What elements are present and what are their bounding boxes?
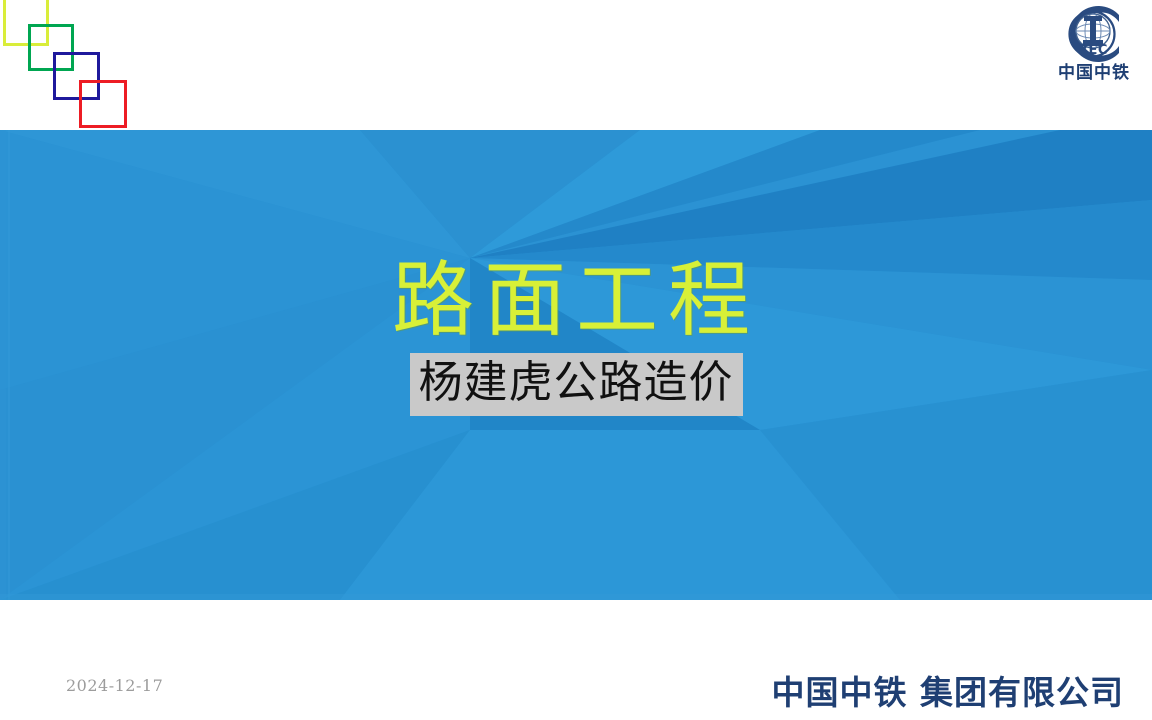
slide-date: 2024-12-17: [66, 676, 163, 695]
svg-text:REC: REC: [1078, 43, 1108, 58]
crec-globe-icon: REC: [1057, 2, 1131, 66]
logo-chinese-name: 中国中铁: [1042, 65, 1146, 82]
title-group: 路面工程 杨建虎公路造价: [0, 255, 1152, 416]
page-subtitle: 杨建虎公路造价: [410, 353, 743, 416]
subtitle-container: 杨建虎公路造价: [0, 353, 1152, 416]
red-square-outline: [79, 80, 127, 128]
crec-logo: REC 中国中铁: [1042, 2, 1146, 88]
company-name: 中国中铁 集团有限公司: [772, 666, 1125, 714]
presentation-slide: REC 中国中铁: [0, 0, 1152, 720]
page-title: 路面工程: [0, 255, 1152, 347]
